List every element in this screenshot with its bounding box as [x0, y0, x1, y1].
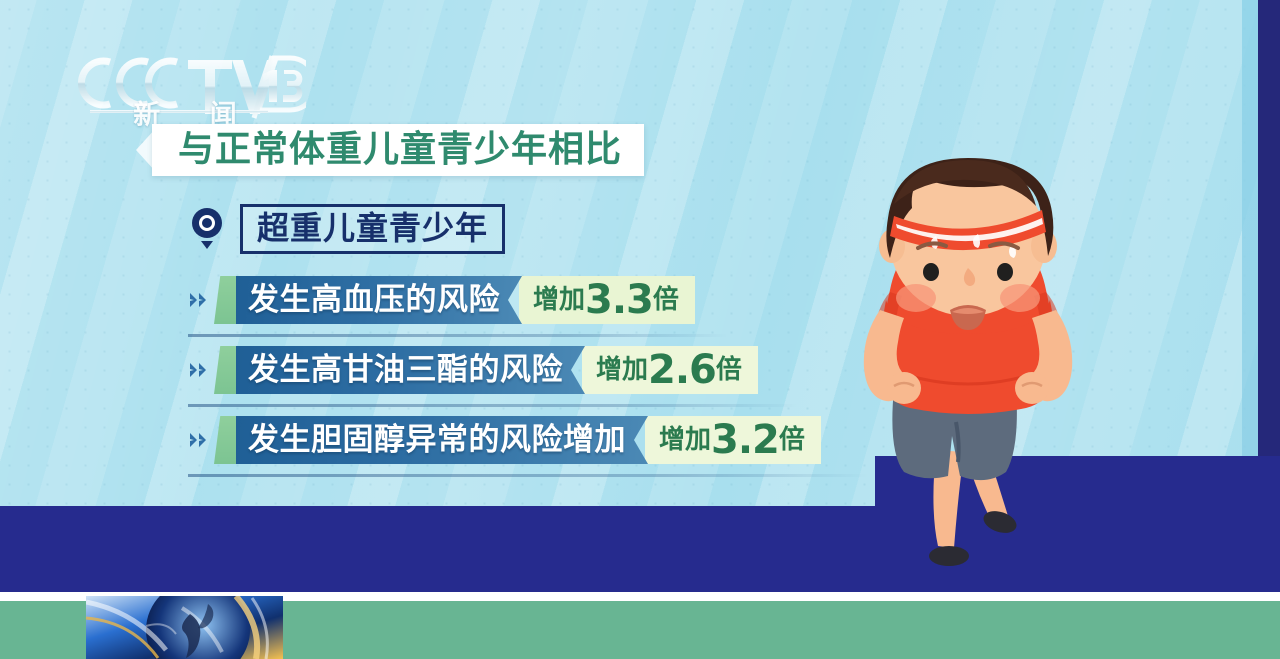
page-title-band: 与正常体重儿童青少年相比 [152, 124, 644, 176]
risk-value-prefix: 增加 [596, 357, 648, 383]
row-green-edge [214, 276, 238, 324]
risk-value-prefix: 增加 [533, 287, 585, 313]
broadcast-graphic-screen: 新 闻 与正常体重儿童青少年相比 超重儿童青少年 [0, 0, 1280, 659]
row-underline [188, 404, 798, 407]
page-title: 与正常体重儿童青少年相比 [178, 132, 622, 168]
location-pin-icon [192, 208, 224, 250]
subtitle-box: 超重儿童青少年 [240, 204, 505, 254]
subtitle-group: 超重儿童青少年 [192, 204, 505, 254]
risk-value-suffix: 倍 [653, 287, 679, 313]
subtitle-text: 超重儿童青少年 [257, 209, 488, 247]
risk-value-suffix: 倍 [779, 427, 805, 453]
risk-label: 发生高血压的风险 [248, 285, 500, 316]
news-globe-thumbnail [86, 596, 283, 659]
risk-label-bar: 发生高血压的风险 [236, 276, 522, 324]
risk-value-box: 增加 2.6 倍 [582, 346, 758, 394]
risk-value-box: 增加 3.2 倍 [645, 416, 821, 464]
row-green-edge [214, 346, 238, 394]
risk-value-number: 2.6 [648, 350, 716, 390]
row-underline [188, 474, 868, 477]
overweight-child-running-illustration [818, 150, 1118, 590]
double-chevron-icon [186, 416, 214, 464]
risk-value-suffix: 倍 [716, 357, 742, 383]
double-chevron-icon [186, 346, 214, 394]
risk-value-box: 增加 3.3 倍 [519, 276, 695, 324]
risk-label: 发生胆固醇异常的风险增加 [248, 425, 626, 456]
risk-value-number: 3.2 [711, 420, 779, 460]
risk-label-bar: 发生胆固醇异常的风险增加 [236, 416, 648, 464]
row-underline [188, 334, 728, 337]
risk-value-prefix: 增加 [659, 427, 711, 453]
risk-label: 发生高甘油三酯的风险 [248, 355, 563, 386]
double-chevron-icon [186, 276, 214, 324]
row-green-edge [214, 416, 238, 464]
risk-label-bar: 发生高甘油三酯的风险 [236, 346, 585, 394]
risk-value-number: 3.3 [585, 280, 653, 320]
